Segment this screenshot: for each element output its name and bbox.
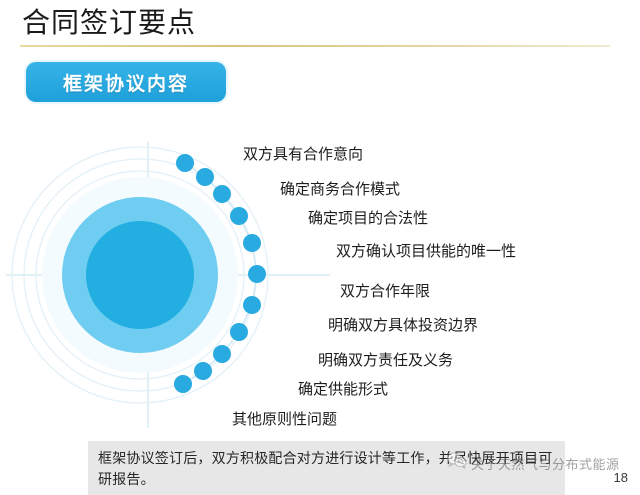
concentric-circle-diagram bbox=[0, 128, 330, 438]
list-item: 双方合作年限 bbox=[340, 283, 430, 301]
slide-canvas: 合同签订要点 框架协议内容 bbox=[0, 0, 640, 495]
section-pill-label: 框架协议内容 bbox=[63, 69, 189, 96]
node-dot bbox=[213, 185, 231, 203]
node-dot bbox=[174, 375, 192, 393]
list-item: 确定商务合作模式 bbox=[280, 181, 400, 199]
title-divider bbox=[20, 45, 610, 47]
node-dot bbox=[230, 207, 248, 225]
list-item: 双方具有合作意向 bbox=[243, 146, 363, 164]
list-item: 明确双方具体投资边界 bbox=[328, 317, 478, 335]
caption-text: 框架协议签订后，双方积极配合对方进行设计等工作，并尽快展开项目可研报告。 bbox=[98, 448, 558, 490]
list-item: 其他原则性问题 bbox=[232, 411, 337, 429]
page-title: 合同签订要点 bbox=[22, 6, 196, 40]
node-dot bbox=[230, 323, 248, 341]
node-dot bbox=[243, 296, 261, 314]
list-item: 确定供能形式 bbox=[298, 381, 388, 399]
node-dot bbox=[248, 265, 266, 283]
node-dot bbox=[213, 345, 231, 363]
inner-circle bbox=[86, 221, 194, 329]
list-item: 明确双方责任及义务 bbox=[318, 352, 453, 370]
page-number: 18 bbox=[614, 470, 628, 485]
list-item: 双方确认项目供能的唯一性 bbox=[336, 243, 516, 261]
node-dot bbox=[243, 234, 261, 252]
node-dot bbox=[194, 362, 212, 380]
node-dot bbox=[176, 154, 194, 172]
caption-box: 框架协议签订后，双方积极配合对方进行设计等工作，并尽快展开项目可研报告。 bbox=[88, 441, 565, 495]
section-pill[interactable]: 框架协议内容 bbox=[26, 62, 226, 102]
list-item: 确定项目的合法性 bbox=[308, 210, 428, 228]
node-dot bbox=[196, 168, 214, 186]
